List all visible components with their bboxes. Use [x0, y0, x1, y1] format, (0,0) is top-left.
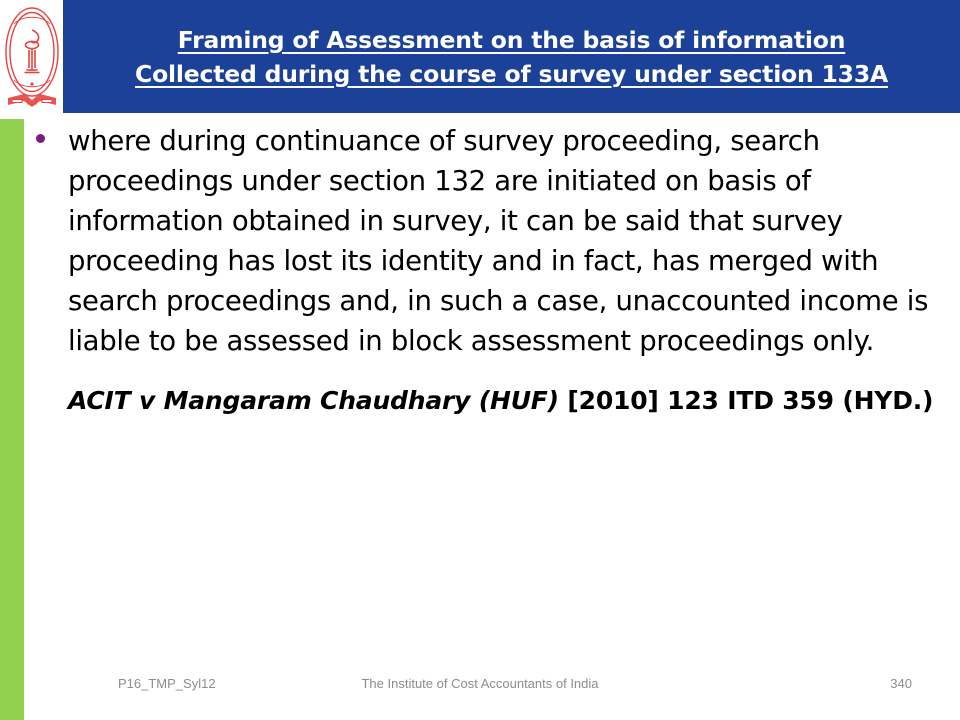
institute-logo — [2, 4, 62, 116]
case-citation: ACIT v Mangaram Chaudhary (HUF) [2010] 1… — [33, 383, 948, 419]
bullet-dot-icon — [36, 134, 45, 143]
case-reference: [2010] 123 ITD 359 (HYD.) — [559, 386, 933, 415]
bullet-list-item: where during continuance of survey proce… — [33, 121, 948, 361]
slide: Framing of Assessment on the basis of in… — [0, 0, 960, 720]
page-title-line-2: Collected during the course of survey un… — [135, 57, 888, 91]
page-title-line-1: Framing of Assessment on the basis of in… — [178, 23, 846, 57]
page-title: Framing of Assessment on the basis of in… — [63, 0, 960, 113]
footer-page-number: 340 — [890, 676, 912, 691]
bullet-text: where during continuance of survey proce… — [68, 121, 948, 361]
left-accent-bar — [0, 119, 24, 720]
case-name: ACIT v Mangaram Chaudhary (HUF) — [68, 386, 559, 415]
slide-footer: P16_TMP_Syl12 The Institute of Cost Acco… — [0, 676, 960, 698]
footer-institute-name: The Institute of Cost Accountants of Ind… — [0, 676, 960, 691]
title-banner: Framing of Assessment on the basis of in… — [63, 0, 960, 113]
slide-content: where during continuance of survey proce… — [33, 121, 948, 419]
